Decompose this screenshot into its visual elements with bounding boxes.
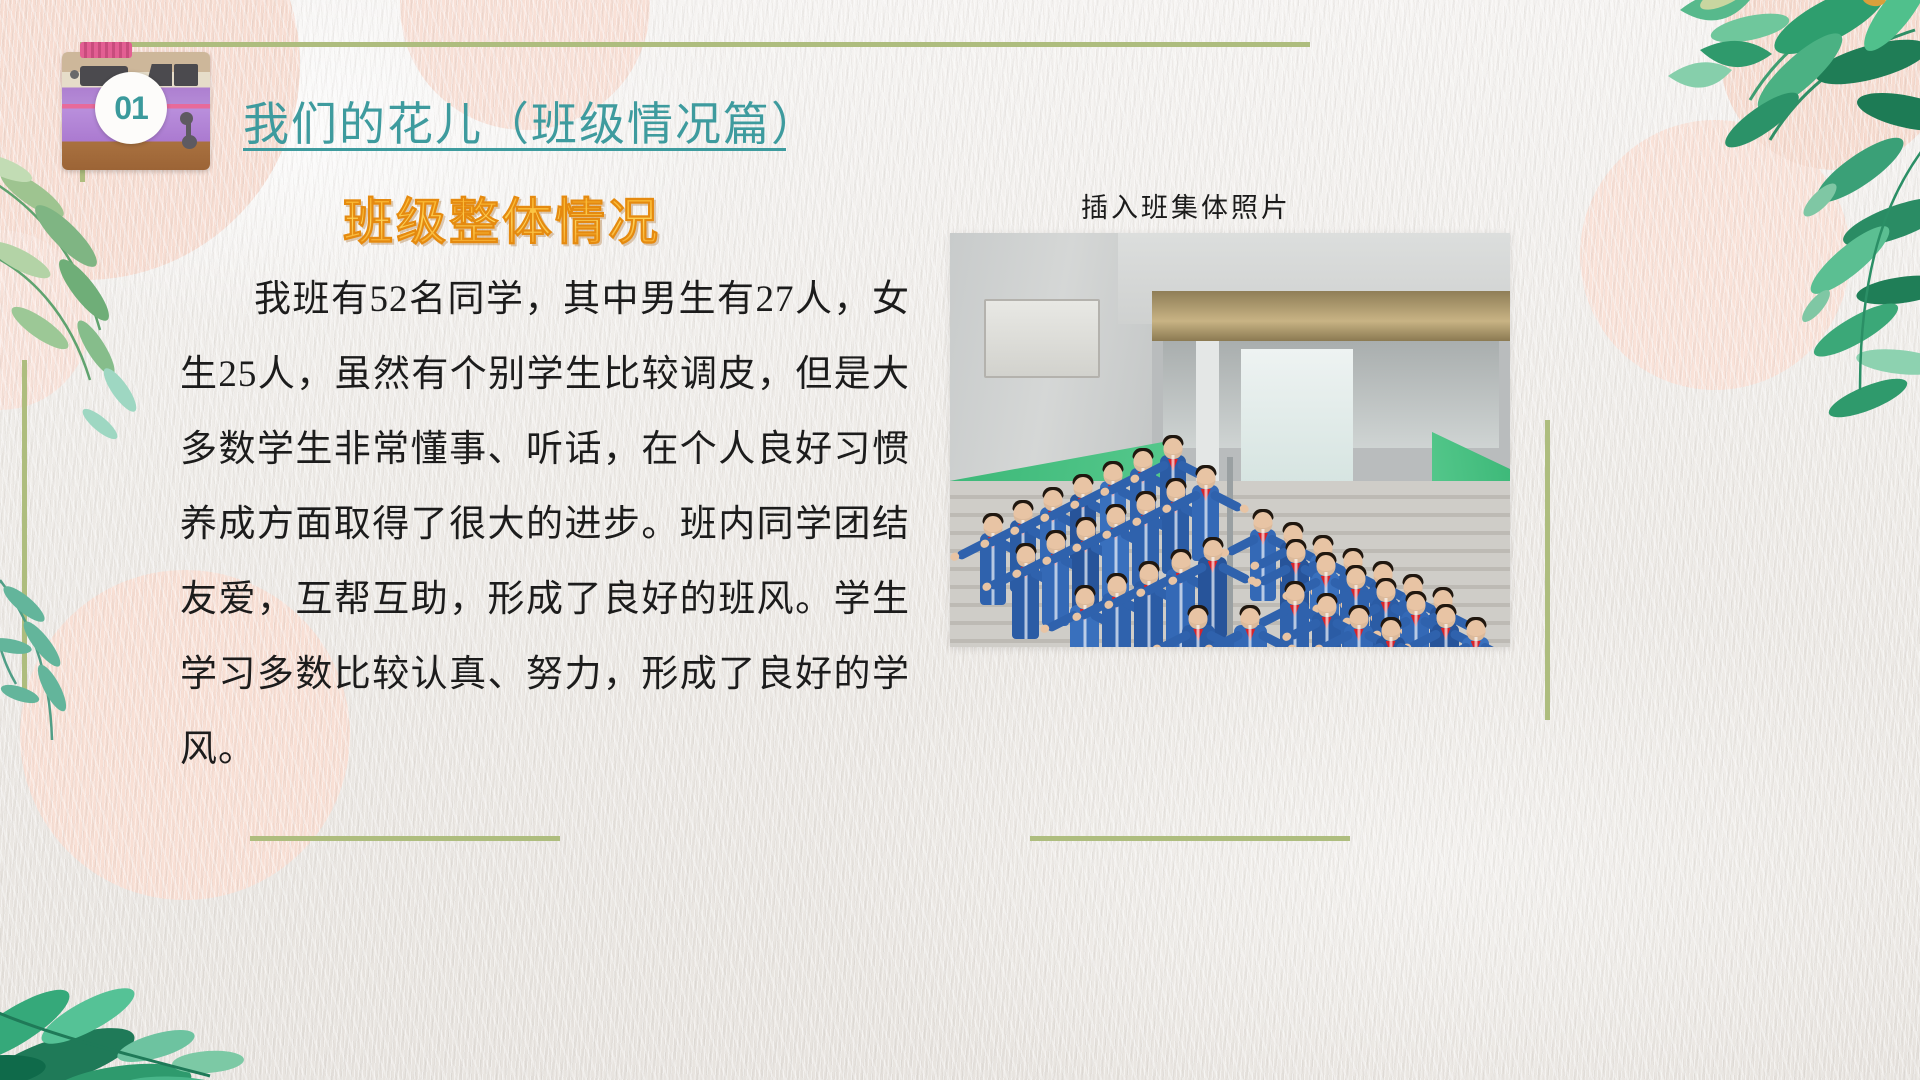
photo-whiteboard [984,299,1100,378]
camera-illustration: 01 [62,52,210,170]
photo-student [1462,637,1489,647]
frame-line-bottom-right [1030,836,1350,841]
student-uniform-stripe [1197,625,1200,647]
photo-student [1376,637,1405,647]
student-uniform-stripe [1389,637,1392,647]
frame-line-bottom-left [250,836,560,841]
frame-line-right [1545,420,1550,720]
slide-number-label: 01 [114,90,148,127]
slide-number-badge: 01 [95,72,167,144]
title-underline [243,148,786,151]
class-group-photo [950,233,1510,647]
photo-student [1432,624,1459,647]
photo-student [1344,625,1373,647]
camera-top-accent-icon [80,42,132,58]
frame-line-top [80,42,1310,47]
slide-title: 我们的花儿（班级情况篇） [243,88,819,154]
camera-strap-ring-icon [182,135,197,149]
presentation-slide: 01 我们的花儿（班级情况篇） 班级整体情况 我班有52名同学，其中男生有27人… [0,0,1920,1080]
frame-line-left-lower [22,360,27,700]
camera-strap-ring-icon [180,112,193,125]
body-paragraph: 我班有52名同学，其中男生有27人，女生25人，虽然有个别学生比较调皮，但是大多… [180,262,910,787]
student-uniform-stripe [1444,624,1447,647]
section-heading: 班级整体情况 [343,182,661,254]
student-uniform-stripe [1249,625,1252,647]
photo-door-frame [1152,291,1510,341]
student-uniform-stripe [1474,637,1477,647]
student-uniform-stripe [1357,625,1360,647]
student-uniform-stripe [1293,601,1296,647]
photo-student [1234,625,1267,647]
camera-dial-icon [70,70,79,79]
body-text-block: 我班有52名同学，其中男生有27人，女生25人，虽然有个别学生比较调皮，但是大多… [180,262,910,787]
camera-flash-icon [174,64,198,86]
photo-caption: 插入班集体照片 [1081,186,1291,225]
